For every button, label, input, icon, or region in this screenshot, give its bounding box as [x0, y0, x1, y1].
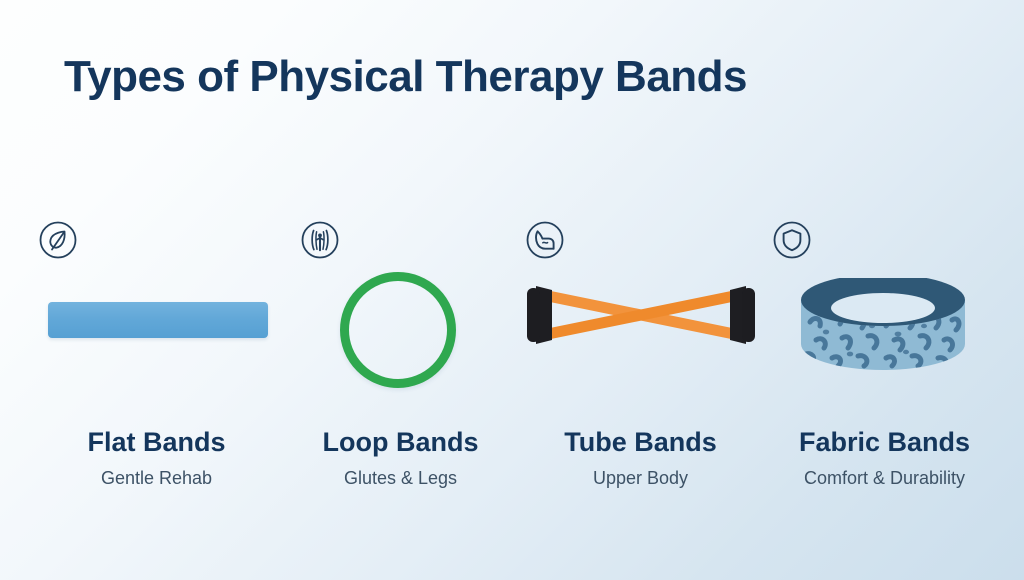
shield-icon: [772, 220, 812, 260]
band-title: Flat Bands: [34, 428, 279, 458]
band-subtitle: Glutes & Legs: [278, 469, 523, 489]
band-title: Tube Bands: [518, 428, 763, 458]
leaf-icon: [38, 220, 78, 260]
band-title: Fabric Bands: [762, 428, 1007, 458]
page-title: Types of Physical Therapy Bands: [64, 52, 747, 102]
flat-band-shape: [48, 302, 268, 338]
body-figure-icon: [300, 220, 340, 260]
band-title: Loop Bands: [278, 428, 523, 458]
flat-band-art: [34, 272, 279, 407]
band-column-fabric: Fabric Bands Comfort & Durability: [762, 210, 1007, 520]
band-subtitle: Upper Body: [518, 469, 763, 489]
flexed-bicep-icon: [525, 220, 565, 260]
band-subtitle: Gentle Rehab: [34, 469, 279, 489]
band-label-block: Tube Bands Upper Body: [518, 428, 763, 488]
band-subtitle: Comfort & Durability: [762, 469, 1007, 489]
fabric-band-shape: [798, 278, 968, 386]
band-column-flat: Flat Bands Gentle Rehab: [34, 210, 279, 520]
fabric-band-art: [762, 272, 1007, 407]
band-label-block: Fabric Bands Comfort & Durability: [762, 428, 1007, 488]
infographic-canvas: Types of Physical Therapy Bands Flat Ban…: [0, 0, 1024, 580]
tube-band-shape: [522, 280, 760, 350]
loop-band-shape: [340, 272, 456, 388]
loop-band-art: [278, 272, 523, 407]
tube-band-art: [518, 272, 763, 407]
band-column-tube: Tube Bands Upper Body: [518, 210, 763, 520]
band-label-block: Flat Bands Gentle Rehab: [34, 428, 279, 488]
band-label-block: Loop Bands Glutes & Legs: [278, 428, 523, 488]
band-column-loop: Loop Bands Glutes & Legs: [278, 210, 523, 520]
